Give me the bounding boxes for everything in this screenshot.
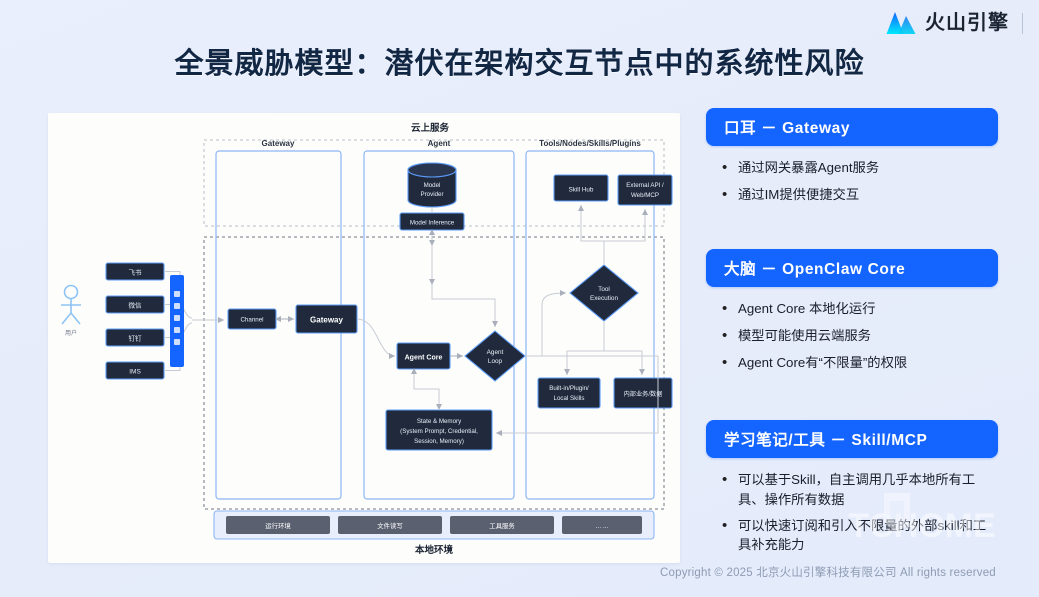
- channel-box-feishu: 飞书: [106, 263, 164, 280]
- svg-text:... ...: ... ...: [596, 523, 609, 530]
- volcano-mountain-icon: [886, 10, 916, 36]
- svg-text:钉钉: 钉钉: [129, 334, 143, 343]
- svg-text:Skill Hub: Skill Hub: [569, 187, 594, 194]
- bullet-text: 通过IM提供便捷交互: [738, 185, 992, 204]
- svg-text:IMS: IMS: [129, 369, 141, 376]
- section-header-openclaw-core: 大脑 － OpenClaw Core: [706, 249, 998, 287]
- bullet-text: Agent Core 本地化运行: [738, 299, 992, 318]
- svg-text:飞书: 飞书: [129, 268, 143, 277]
- spacer: [706, 223, 998, 249]
- svg-text:Loop: Loop: [488, 358, 503, 365]
- svg-text:运行环境: 运行环境: [265, 521, 291, 530]
- column-label-tools: Tools/Nodes/Skills/Plugins: [539, 139, 641, 148]
- svg-text:State & Memory: State & Memory: [417, 418, 462, 425]
- svg-text:External API /: External API /: [626, 182, 664, 189]
- svg-text:Tool: Tool: [598, 286, 610, 293]
- bullet-dot-icon: •: [722, 158, 738, 178]
- svg-text:内部业务/数据: 内部业务/数据: [624, 390, 663, 398]
- svg-text:工具服务: 工具服务: [489, 521, 515, 530]
- svg-text:Channel: Channel: [240, 317, 263, 324]
- svg-text:Execution: Execution: [590, 295, 619, 302]
- bullet-item: • 通过IM提供便捷交互: [722, 185, 992, 205]
- section-body-gateway: • 通过网关暴露Agent服务 • 通过IM提供便捷交互: [706, 146, 998, 217]
- page-title: 全景威胁模型：潜伏在架构交互节点中的系统性风险: [0, 40, 1039, 82]
- actor-user: [61, 286, 81, 325]
- bullet-item: • Agent Core 本地化运行: [722, 299, 992, 319]
- bullet-dot-icon: •: [722, 516, 738, 536]
- bullet-dot-icon: •: [722, 326, 738, 346]
- bullet-text: Agent Core有“不限量”的权限: [738, 353, 992, 372]
- section-header-gateway: 口耳 － Gateway: [706, 108, 998, 146]
- section-body-openclaw-core: • Agent Core 本地化运行 • 模型可能使用云端服务 • Agent …: [706, 287, 998, 385]
- node-gateway: Gateway: [296, 305, 357, 333]
- section-skill-mcp: 学习笔记/工具 － Skill/MCP • 可以基于Skill，自主调用几乎本地…: [706, 420, 998, 565]
- side-panel: 口耳 － Gateway • 通过网关暴露Agent服务 • 通过IM提供便捷交…: [706, 108, 998, 571]
- local-service-file-io: 文件读写: [338, 516, 442, 534]
- spacer: [706, 390, 998, 420]
- brand-divider: [1022, 13, 1023, 34]
- section-body-skill-mcp: • 可以基于Skill，自主调用几乎本地所有工具、操作所有数据 • 可以快速订阅…: [706, 458, 998, 565]
- node-external-api: External API / Web/MCP: [618, 175, 672, 205]
- svg-text:Session, Memory): Session, Memory): [414, 438, 464, 445]
- svg-text:文件读写: 文件读写: [377, 521, 403, 530]
- node-channel: Channel: [228, 309, 276, 329]
- node-agent-loop: Agent Loop: [465, 331, 525, 381]
- svg-text:Model: Model: [424, 182, 441, 189]
- copyright-text: Copyright © 2025 北京火山引擎科技有限公司 All rights…: [660, 564, 1030, 580]
- svg-text:Model Inference: Model Inference: [410, 220, 455, 227]
- section-header-skill-mcp-text: 学习笔记/工具 － Skill/MCP: [724, 428, 927, 450]
- bullet-text: 可以快速订阅和引入不限量的外部skill和工具补充能力: [738, 516, 992, 555]
- cloud-services-label: 云上服务: [411, 122, 450, 134]
- section-openclaw-core: 大脑 － OpenClaw Core • Agent Core 本地化运行 • …: [706, 249, 998, 385]
- svg-text:Agent Core: Agent Core: [405, 355, 443, 362]
- bullet-item: • 模型可能使用云端服务: [722, 326, 992, 346]
- bullet-item: • 可以快速订阅和引入不限量的外部skill和工具补充能力: [722, 516, 992, 555]
- bullet-text: 通过网关暴露Agent服务: [738, 158, 992, 177]
- bullet-dot-icon: •: [722, 470, 738, 490]
- section-header-skill-mcp: 学习笔记/工具 － Skill/MCP: [706, 420, 998, 458]
- bullet-item: • 通过网关暴露Agent服务: [722, 158, 992, 178]
- bullet-dot-icon: •: [722, 353, 738, 373]
- bullet-text: 模型可能使用云端服务: [738, 326, 992, 345]
- bullet-dot-icon: •: [722, 299, 738, 319]
- channel-box-wechat: 微信: [106, 296, 164, 313]
- node-model-provider: Model Provider: [408, 163, 456, 207]
- svg-text:(System Prompt, Credential,: (System Prompt, Credential,: [400, 428, 478, 435]
- node-model-inference: Model Inference: [400, 213, 464, 230]
- brand-logo: 火山引擎: [886, 10, 1023, 36]
- omni-agent-bar: [170, 275, 184, 367]
- actor-user-label: 用户: [65, 329, 77, 337]
- channel-box-dingtalk: 钉钉: [106, 329, 164, 346]
- node-builtin-skills: Built-in/Plugin/ Local Skills: [538, 378, 600, 408]
- node-state-memory: State & Memory (System Prompt, Credentia…: [386, 410, 492, 450]
- svg-text:Agent: Agent: [487, 349, 504, 356]
- svg-text:Provider: Provider: [420, 191, 443, 198]
- architecture-diagram: 云上服务 Gateway Agent Tools/Nodes/Skills/Pl…: [48, 113, 680, 563]
- bullet-text: 可以基于Skill，自主调用几乎本地所有工具、操作所有数据: [738, 470, 992, 509]
- section-header-gateway-text: 口耳 － Gateway: [724, 116, 850, 138]
- column-label-agent: Agent: [428, 139, 451, 148]
- local-environment-label: 本地环境: [415, 544, 454, 556]
- svg-text:微信: 微信: [129, 301, 143, 310]
- section-gateway: 口耳 － Gateway • 通过网关暴露Agent服务 • 通过IM提供便捷交…: [706, 108, 998, 217]
- bullet-dot-icon: •: [722, 185, 738, 205]
- svg-text:Built-in/Plugin/: Built-in/Plugin/: [549, 385, 589, 392]
- local-service-more: ... ...: [562, 516, 642, 534]
- svg-text:Web/MCP: Web/MCP: [631, 192, 659, 199]
- svg-text:Gateway: Gateway: [310, 316, 343, 325]
- column-label-gateway: Gateway: [262, 139, 295, 148]
- svg-text:Local Skills: Local Skills: [554, 395, 585, 402]
- node-skill-hub: Skill Hub: [554, 175, 608, 201]
- node-internal-data: 内部业务/数据: [614, 378, 672, 408]
- local-service-runtime: 运行环境: [226, 516, 330, 534]
- section-header-openclaw-core-text: 大脑 － OpenClaw Core: [724, 257, 905, 279]
- bullet-item: • 可以基于Skill，自主调用几乎本地所有工具、操作所有数据: [722, 470, 992, 509]
- architecture-diagram-card: 云上服务 Gateway Agent Tools/Nodes/Skills/Pl…: [48, 113, 680, 563]
- bullet-item: • Agent Core有“不限量”的权限: [722, 353, 992, 373]
- brand-name: 火山引擎: [925, 13, 1009, 33]
- channel-box-ims: IMS: [106, 362, 164, 379]
- node-agent-core: Agent Core: [397, 343, 450, 369]
- local-service-tooling: 工具服务: [450, 516, 554, 534]
- node-tool-execution: Tool Execution: [570, 265, 638, 321]
